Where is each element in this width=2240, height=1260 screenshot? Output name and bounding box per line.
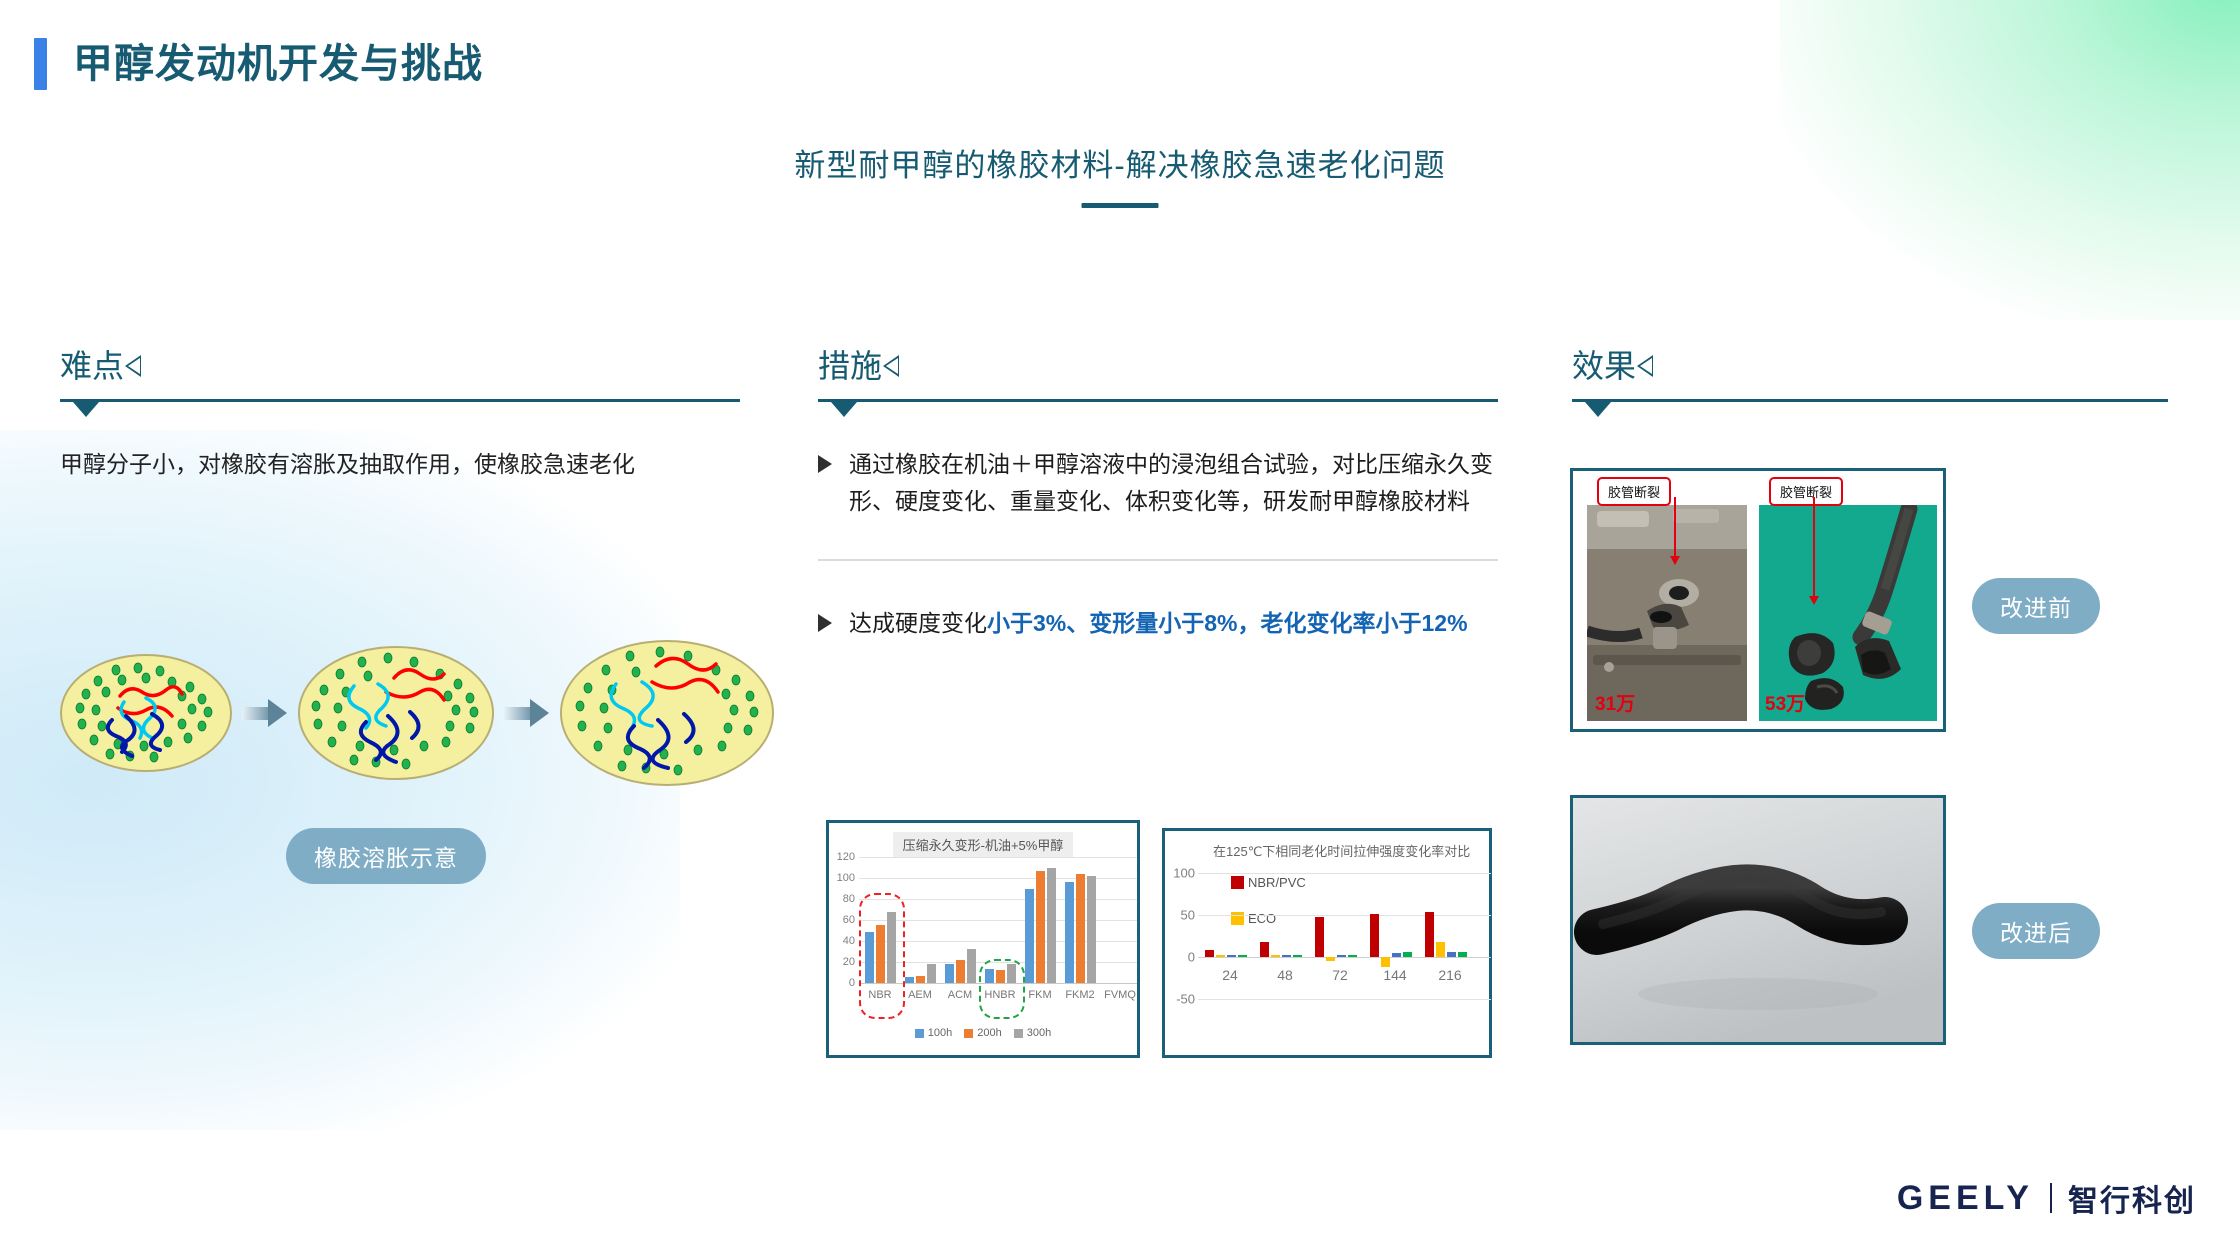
chart-2-bar-72-eco — [1326, 957, 1335, 961]
effect-heading-label: 效果 — [1572, 350, 1636, 382]
chart-1-xtick-fkm2: FKM2 — [1065, 989, 1094, 1001]
chart-1-ytick-100: 100 — [829, 872, 855, 884]
swelling-arrow-1 — [242, 698, 288, 728]
column-difficulty: 难点 甲醇分子小，对橡胶有溶胀及抽取作用，使橡胶急速老化 — [60, 350, 740, 484]
chart-2-ytick-50: 50 — [1165, 908, 1195, 923]
chart-1-ytick-20: 20 — [829, 956, 855, 968]
measures-bullet-2-highlight: 小于3%、变形量小于8%，老化变化率小于12% — [987, 610, 1468, 636]
measures-bullet-1: 通过橡胶在机油＋甲醇溶液中的浸泡组合试验，对比压缩永久变形、硬度变化、重量变化、… — [818, 446, 1498, 521]
chart-1-group-fkm2 — [1061, 857, 1099, 983]
chart-1-bar-fkm-200h — [1036, 871, 1045, 983]
before-pill: 改进前 — [1972, 578, 2100, 634]
chart-1-ytick-80: 80 — [829, 893, 855, 905]
chart-tensile-strength: 在125℃下相同老化时间拉伸强度变化率对比 NBR/PVC ECO 100 50… — [1162, 828, 1492, 1058]
chart-compression-set: 压缩永久变形-机油+5%甲醇 0 20 40 60 80 100 120 — [826, 820, 1140, 1058]
chart-1-group-fkm — [1021, 857, 1059, 983]
triangle-left-icon — [140, 354, 157, 378]
chart-2-bar-144-nbrpvc — [1370, 914, 1379, 957]
chart-2-plot: 100 50 0 -50 — [1165, 853, 1495, 1043]
before-photo-1-label: 胶管断裂 — [1597, 477, 1671, 506]
chart-2-xtick-216: 216 — [1438, 967, 1461, 983]
photo-improved-hose-graphic — [1573, 798, 1943, 1042]
chart-2-bar-48-nbrpvc — [1260, 942, 1269, 957]
column-measures: 措施 通过橡胶在机油＋甲醇溶液中的浸泡组合试验，对比压缩永久变形、硬度变化、重量… — [818, 350, 1498, 642]
triangle-left-icon — [898, 354, 915, 378]
measures-heading-label: 措施 — [818, 350, 882, 382]
logo-divider — [2050, 1183, 2052, 1213]
sub-brand-label: 智行科创 — [2068, 1176, 2196, 1220]
chart-1-legend-100h-label: 100h — [928, 1027, 952, 1039]
chart-1-plot: 0 20 40 60 80 100 120 — [829, 859, 1143, 1019]
before-photo-2-label: 胶管断裂 — [1769, 477, 1843, 506]
chart-2-bar-216-s4 — [1458, 952, 1467, 957]
chart-1-group-acm — [941, 857, 979, 983]
chart-1-group-aem — [901, 857, 939, 983]
column-effect-heading: 效果 — [1572, 350, 2168, 382]
before-photo-2-arrow — [1813, 497, 1815, 597]
chart-1-bar-acm-200h — [956, 960, 965, 983]
chart-2-bar-144-eco — [1381, 957, 1390, 967]
chart-2-bar-48-eco — [1271, 955, 1280, 957]
column-difficulty-heading: 难点 — [60, 350, 740, 382]
chart-2-bar-24-s4 — [1238, 955, 1247, 957]
chart-2-xtick-48: 48 — [1277, 967, 1293, 983]
after-pill: 改进后 — [1972, 903, 2100, 959]
chart-2-bar-72-nbrpvc — [1315, 917, 1324, 957]
swelling-stage-3-graphic — [560, 640, 774, 786]
geely-wordmark: GEELY — [1897, 1179, 2034, 1218]
swelling-caption-pill: 橡胶溶胀示意 — [286, 828, 486, 884]
legend-swatch-icon — [915, 1029, 924, 1038]
chart-2-bar-216-s3 — [1447, 952, 1456, 957]
bullet-triangle-icon — [818, 614, 832, 632]
legend-swatch-icon — [964, 1029, 973, 1038]
chart-1-bar-fkm-100h — [1025, 889, 1034, 983]
chart-1-xtick-fvmq: FVMQ — [1104, 989, 1136, 1001]
chart-1-ytick-60: 60 — [829, 914, 855, 926]
slide-title-row: 甲醇发动机开发与挑战 — [34, 38, 483, 90]
chart-1-legend-100h: 100h — [915, 1027, 952, 1039]
subtitle-underline — [1082, 203, 1159, 208]
swelling-stage-3 — [560, 640, 774, 786]
chart-1-bar-acm-300h — [967, 949, 976, 983]
chart-2-xtick-24: 24 — [1222, 967, 1238, 983]
chart-2-bar-144-s4 — [1403, 952, 1412, 957]
chart-1-xtick-aem: AEM — [908, 989, 932, 1001]
measures-bullet-2-plain: 达成硬度变化 — [849, 610, 987, 636]
column-measures-heading: 措施 — [818, 350, 1498, 382]
photo-panel-before: 胶管断裂 31万 胶管断裂 53万 — [1570, 468, 1946, 732]
before-photo-1-mileage: 31万 — [1595, 689, 1635, 716]
chart-1-bar-aem-300h — [927, 964, 936, 983]
chart-1-ytick-120: 120 — [829, 851, 855, 863]
chart-1-xtick-acm: ACM — [948, 989, 972, 1001]
measures-bullet-1-text: 通过橡胶在机油＋甲醇溶液中的浸泡组合试验，对比压缩永久变形、硬度变化、重量变化、… — [849, 446, 1498, 521]
chart-2-xtick-144: 144 — [1383, 967, 1406, 983]
chart-1-bar-aem-100h — [905, 977, 914, 983]
measures-bullet-2-text: 达成硬度变化小于3%、变形量小于8%，老化变化率小于12% — [849, 605, 1468, 642]
chart-2-ytick-neg50: -50 — [1165, 992, 1195, 1007]
difficulty-body-text: 甲醇分子小，对橡胶有溶胀及抽取作用，使橡胶急速老化 — [60, 446, 740, 484]
column-effect: 效果 — [1572, 350, 2168, 402]
chart-2-bar-24-s3 — [1227, 955, 1236, 957]
chart-1-legend-300h-label: 300h — [1027, 1027, 1051, 1039]
chart-1-bar-fkm2-300h — [1087, 876, 1096, 983]
chart-2-bar-216-eco — [1436, 942, 1445, 957]
before-photo-2-mileage: 53万 — [1765, 689, 1805, 716]
column-difficulty-rule — [60, 399, 740, 402]
swelling-stage-1 — [60, 654, 232, 772]
chart-2-ytick-100: 100 — [1165, 866, 1195, 881]
chart-2-bar-72-s4 — [1348, 955, 1357, 957]
chart-1-legend-200h-label: 200h — [977, 1027, 1001, 1039]
chart-2-xtick-72: 72 — [1332, 967, 1348, 983]
chart-1-legend-200h: 200h — [964, 1027, 1001, 1039]
swelling-stage-1-graphic — [60, 654, 232, 772]
slide-subtitle: 新型耐甲醇的橡胶材料-解决橡胶急速老化问题 — [0, 140, 2240, 185]
chart-1-bar-acm-100h — [945, 964, 954, 983]
measures-divider — [818, 559, 1498, 561]
rubber-swelling-diagram — [60, 640, 774, 786]
triangle-left-icon — [1652, 354, 1669, 378]
chart-1-xtick-nbr: NBR — [868, 989, 891, 1001]
chart-2-bar-48-s3 — [1282, 955, 1291, 957]
swelling-arrow-2 — [504, 698, 550, 728]
chart-2-bar-24-eco — [1216, 955, 1225, 957]
chart-1-legend-300h: 300h — [1014, 1027, 1051, 1039]
bullet-triangle-icon — [818, 455, 832, 473]
swelling-caption-pill-wrap: 橡胶溶胀示意 — [286, 828, 486, 884]
chart-2-ytick-0: 0 — [1165, 950, 1195, 965]
title-accent-bar — [34, 38, 47, 90]
chart-1-ytick-0: 0 — [829, 977, 855, 989]
chart-2-bar-24-nbrpvc — [1205, 950, 1214, 957]
chart-2-bar-72-s3 — [1337, 955, 1346, 957]
chart-1-title: 压缩永久变形-机油+5%甲醇 — [893, 832, 1074, 857]
chart-2-bar-48-s4 — [1293, 955, 1302, 957]
column-effect-rule — [1572, 399, 2168, 402]
footer-logo: GEELY 智行科创 — [1897, 1176, 2196, 1220]
chart-1-xtick-hnbr: HNBR — [984, 989, 1015, 1001]
chart-1-bar-aem-200h — [916, 976, 925, 983]
chart-1-xtick-fkm: FKM — [1028, 989, 1051, 1001]
chart-1-ytick-40: 40 — [829, 935, 855, 947]
before-photo-1-arrow — [1674, 497, 1676, 557]
chart-1-legend: 100h 200h 300h — [829, 1027, 1137, 1039]
swelling-stage-2-graphic — [298, 646, 494, 780]
chart-1-bar-fkm2-200h — [1076, 874, 1085, 983]
swelling-stage-2 — [298, 646, 494, 780]
chart-2-bar-216-nbrpvc — [1425, 912, 1434, 957]
column-measures-rule — [818, 399, 1498, 402]
photo-panel-after — [1570, 795, 1946, 1045]
chart-1-bar-fkm2-100h — [1065, 882, 1074, 983]
chart-2-bar-144-s3 — [1392, 953, 1401, 957]
measures-bullet-2: 达成硬度变化小于3%、变形量小于8%，老化变化率小于12% — [818, 605, 1498, 642]
difficulty-heading-label: 难点 — [60, 350, 124, 382]
page-title: 甲醇发动机开发与挑战 — [73, 44, 483, 84]
chart-1-bar-fkm-300h — [1047, 868, 1056, 983]
legend-swatch-icon — [1014, 1029, 1023, 1038]
